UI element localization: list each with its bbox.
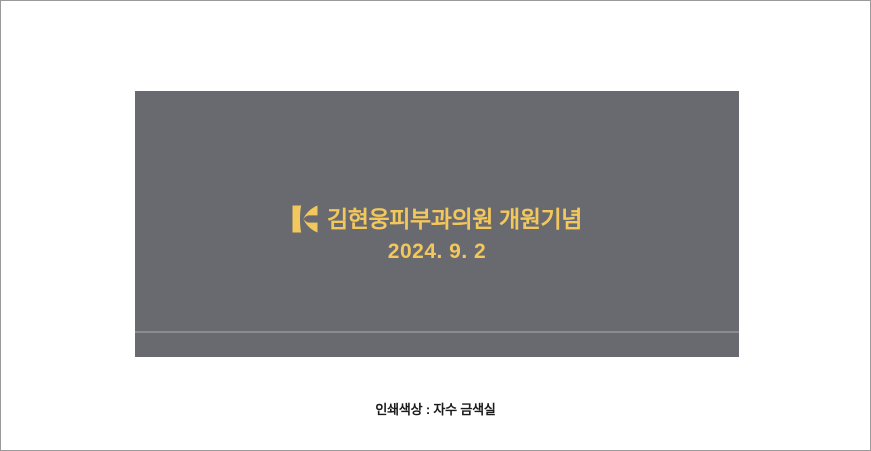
event-date: 2024. 9. 2 bbox=[135, 241, 739, 262]
clinic-title: 김현웅피부과의원 개원기념 bbox=[327, 208, 582, 231]
brand-k-logo-icon bbox=[292, 205, 318, 233]
panel-divider bbox=[135, 331, 739, 333]
artwork-block: 김현웅피부과의원 개원기념 2024. 9. 2 bbox=[135, 203, 739, 262]
print-color-caption: 인쇄색상 : 자수 금색실 bbox=[1, 399, 870, 418]
title-row: 김현웅피부과의원 개원기념 bbox=[135, 203, 739, 235]
mockup-panel: 김현웅피부과의원 개원기념 2024. 9. 2 bbox=[135, 91, 739, 357]
mockup-canvas: 김현웅피부과의원 개원기념 2024. 9. 2 인쇄색상 : 자수 금색실 bbox=[0, 0, 871, 451]
